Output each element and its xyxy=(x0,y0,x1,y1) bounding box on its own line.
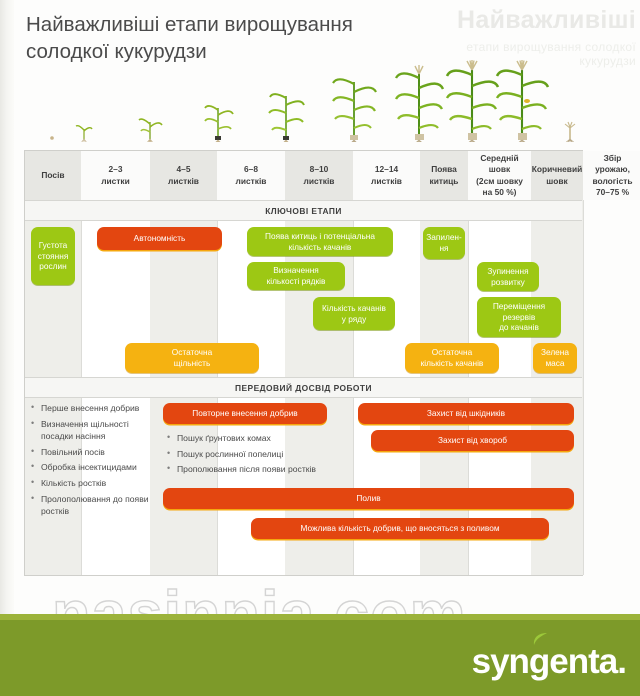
bar-fertigation[interactable]: Можлива кількість добрив, що вносяться з… xyxy=(251,518,549,539)
bar-pollination[interactable]: Запилен-ня xyxy=(423,227,465,259)
bar-disease-protection[interactable]: Захист від хвороб xyxy=(371,430,574,451)
practice-list-sowing-items: Перше внесення добрив Визначення щільнос… xyxy=(31,402,151,517)
bar-final-density[interactable]: Остаточнащільність xyxy=(125,343,259,373)
plant-stage-4-icon xyxy=(205,106,233,142)
syngenta-logo-text: syngenta xyxy=(472,642,618,681)
list-item: Прополювання після появи ростків xyxy=(167,463,317,475)
list-item: Пошук ґрунтових комах xyxy=(167,432,317,444)
plant-stage-3-icon xyxy=(139,119,162,142)
bar-plant-density[interactable]: Густотастояннярослин xyxy=(31,227,75,285)
plant-stage-10-stubble-icon xyxy=(563,122,577,142)
page-edge xyxy=(0,0,14,696)
header-cell-seredniy-shovk: Середнійшовк(2см шовкуна 50 %) xyxy=(468,151,531,200)
practice-list-sowing: Перше внесення добрив Визначення щільнос… xyxy=(31,402,151,521)
header-cell-kytytsi: Появакитиць xyxy=(420,151,468,200)
header-cell-4-5: 4–5листків xyxy=(150,151,217,200)
plant-stage-9-icon xyxy=(497,60,548,142)
header-cell-2-3: 2–3листки xyxy=(81,151,150,200)
plant-stage-5-icon xyxy=(269,94,304,142)
list-item: Визначення щільності посадки насіння xyxy=(31,418,151,442)
growth-stage-table: Посів 2–3листки 4–5листків 6–8листків 8–… xyxy=(24,150,583,576)
plant-stage-8-icon xyxy=(447,60,498,142)
column-band-zbir xyxy=(583,151,640,575)
plant-stage-6-icon xyxy=(333,79,376,142)
bar-green-mass[interactable]: Зеленамаса xyxy=(533,343,577,373)
list-item: Пошук рослинної попелиці xyxy=(167,448,317,460)
bar-ears-per-row[interactable]: Кількість качаніву ряду xyxy=(313,297,395,330)
list-item: Перше внесення добрив xyxy=(31,402,151,414)
bar-pest-protection[interactable]: Захист від шкідників xyxy=(358,403,574,424)
bar-tassel-potential-ears[interactable]: Поява китиць і потенціальнакількість кач… xyxy=(247,227,393,256)
plant-sprout-icon xyxy=(76,126,92,142)
bar-row-count[interactable]: Визначеннякількості рядків xyxy=(247,262,345,290)
plant-stage-7-icon xyxy=(396,65,443,142)
bar-final-ear-count[interactable]: Остаточнакількість качанів xyxy=(405,343,499,373)
practice-list-early-leaf: Пошук ґрунтових комах Пошук рослинної по… xyxy=(167,432,317,479)
header-cell-zbir: Збірурожаю,вологість70–75 % xyxy=(583,151,640,200)
poster-page: Найважливіші етапи вирощування солодкої … xyxy=(0,0,640,696)
bar-repeat-fertilizer[interactable]: Повторне внесення добрив xyxy=(163,403,327,424)
header-cell-6-8: 6–8листків xyxy=(217,151,285,200)
key-stages-zone: Густотастояннярослин Автономність Поява … xyxy=(25,219,582,377)
footer-highlight-stripe xyxy=(0,614,640,620)
bar-growth-stop[interactable]: Зупиненнярозвитку xyxy=(477,262,539,291)
section-band-best-practices: ПЕРЕДОВИЙ ДОСВІД РОБОТИ xyxy=(25,377,582,398)
footer-band: syngenta. xyxy=(0,618,640,696)
syngenta-logo-dot: . xyxy=(617,642,626,681)
list-item: Кількість ростків xyxy=(31,477,151,489)
plant-seed-icon xyxy=(50,136,54,140)
header-cell-posiv: Посів xyxy=(25,151,81,200)
header-cell-8-10: 8–10листків xyxy=(285,151,353,200)
header-cell-korychnevyi-shovk: Коричневийшовк xyxy=(531,151,583,200)
bar-autonomy[interactable]: Автономність xyxy=(97,227,222,250)
table-header-row: Посів 2–3листки 4–5листків 6–8листків 8–… xyxy=(25,151,582,201)
bar-reserve-transfer[interactable]: Переміщеннярезервівдо качанів xyxy=(477,297,561,337)
list-item: Обробка інсектицидами xyxy=(31,461,151,473)
page-title-line-1: Найважливіші етапи вирощування xyxy=(26,12,466,39)
ghost-line-1: Найважливіші xyxy=(457,6,636,34)
practice-list-early-leaf-items: Пошук ґрунтових комах Пошук рослинної по… xyxy=(167,432,317,476)
list-item: Пролополювання до появи ростків xyxy=(31,493,151,517)
header-cell-12-14: 12–14листків xyxy=(353,151,420,200)
plant-stages-svg xyxy=(22,52,622,142)
bar-irrigation[interactable]: Полив xyxy=(163,488,574,509)
section-band-key-stages: КЛЮЧОВІ ЕТАПИ xyxy=(25,200,582,221)
best-practices-zone: Перше внесення добрив Визначення щільнос… xyxy=(25,396,582,576)
list-item: Повільний посів xyxy=(31,446,151,458)
plant-growth-illustration xyxy=(22,52,622,142)
syngenta-logo: syngenta. xyxy=(472,642,626,682)
